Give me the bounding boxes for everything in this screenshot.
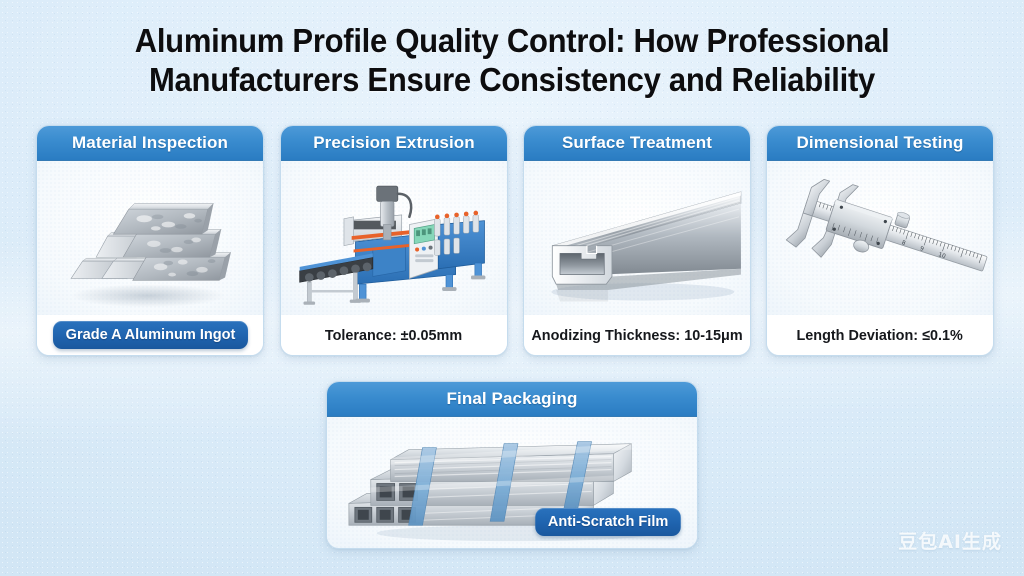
card-header-precision-extrusion: Precision Extrusion	[281, 126, 507, 161]
card-final-packaging[interactable]: Final Packaging	[326, 381, 698, 549]
extrusion-machine-icon	[281, 161, 507, 315]
card-image-material-inspection	[37, 161, 263, 315]
card-surface-treatment[interactable]: Surface Treatment	[523, 125, 751, 356]
card-material-inspection[interactable]: Material Inspection	[36, 125, 264, 356]
card-caption-dimensional-testing: Length Deviation: ≤0.1%	[767, 315, 993, 355]
card-caption-precision-extrusion: Tolerance: ±0.05mm	[281, 315, 507, 355]
aluminum-ingot-stack-icon	[37, 161, 263, 315]
card-header-dimensional-testing: Dimensional Testing	[767, 126, 993, 161]
caption-length-deviation: Length Deviation: ≤0.1%	[797, 327, 963, 344]
anodized-aluminum-profile-icon	[524, 161, 750, 315]
card-caption-material-inspection: Grade A Aluminum Ingot	[37, 315, 263, 355]
card-header-material-inspection: Material Inspection	[37, 126, 263, 161]
page-title-line-2: Manufacturers Ensure Consistency and Rel…	[31, 61, 994, 100]
badge-grade-a-aluminum-ingot[interactable]: Grade A Aluminum Ingot	[53, 321, 248, 349]
card-image-final-packaging: Anti-Scratch Film	[327, 417, 697, 548]
card-header-final-packaging: Final Packaging	[327, 382, 697, 417]
card-image-precision-extrusion	[281, 161, 507, 315]
badge-anti-scratch-film[interactable]: Anti-Scratch Film	[535, 508, 681, 536]
watermark-label: 豆包AI生成	[898, 527, 1002, 554]
card-image-dimensional-testing: 0 1 2 3 6 8 9 10	[767, 161, 993, 315]
card-header-surface-treatment: Surface Treatment	[524, 126, 750, 161]
caption-tolerance: Tolerance: ±0.05mm	[325, 327, 462, 344]
card-image-surface-treatment	[524, 161, 750, 315]
page-title-line-1: Aluminum Profile Quality Control: How Pr…	[31, 22, 994, 61]
card-dimensional-testing[interactable]: Dimensional Testing	[766, 125, 994, 356]
page-title: Aluminum Profile Quality Control: How Pr…	[31, 22, 994, 100]
card-caption-surface-treatment: Anodizing Thickness: 10-15μm	[524, 315, 750, 355]
caption-anodizing-thickness: Anodizing Thickness: 10-15μm	[531, 327, 742, 344]
vernier-caliper-icon: 0 1 2 3 6 8 9 10	[767, 161, 993, 315]
card-precision-extrusion[interactable]: Precision Extrusion	[280, 125, 508, 356]
